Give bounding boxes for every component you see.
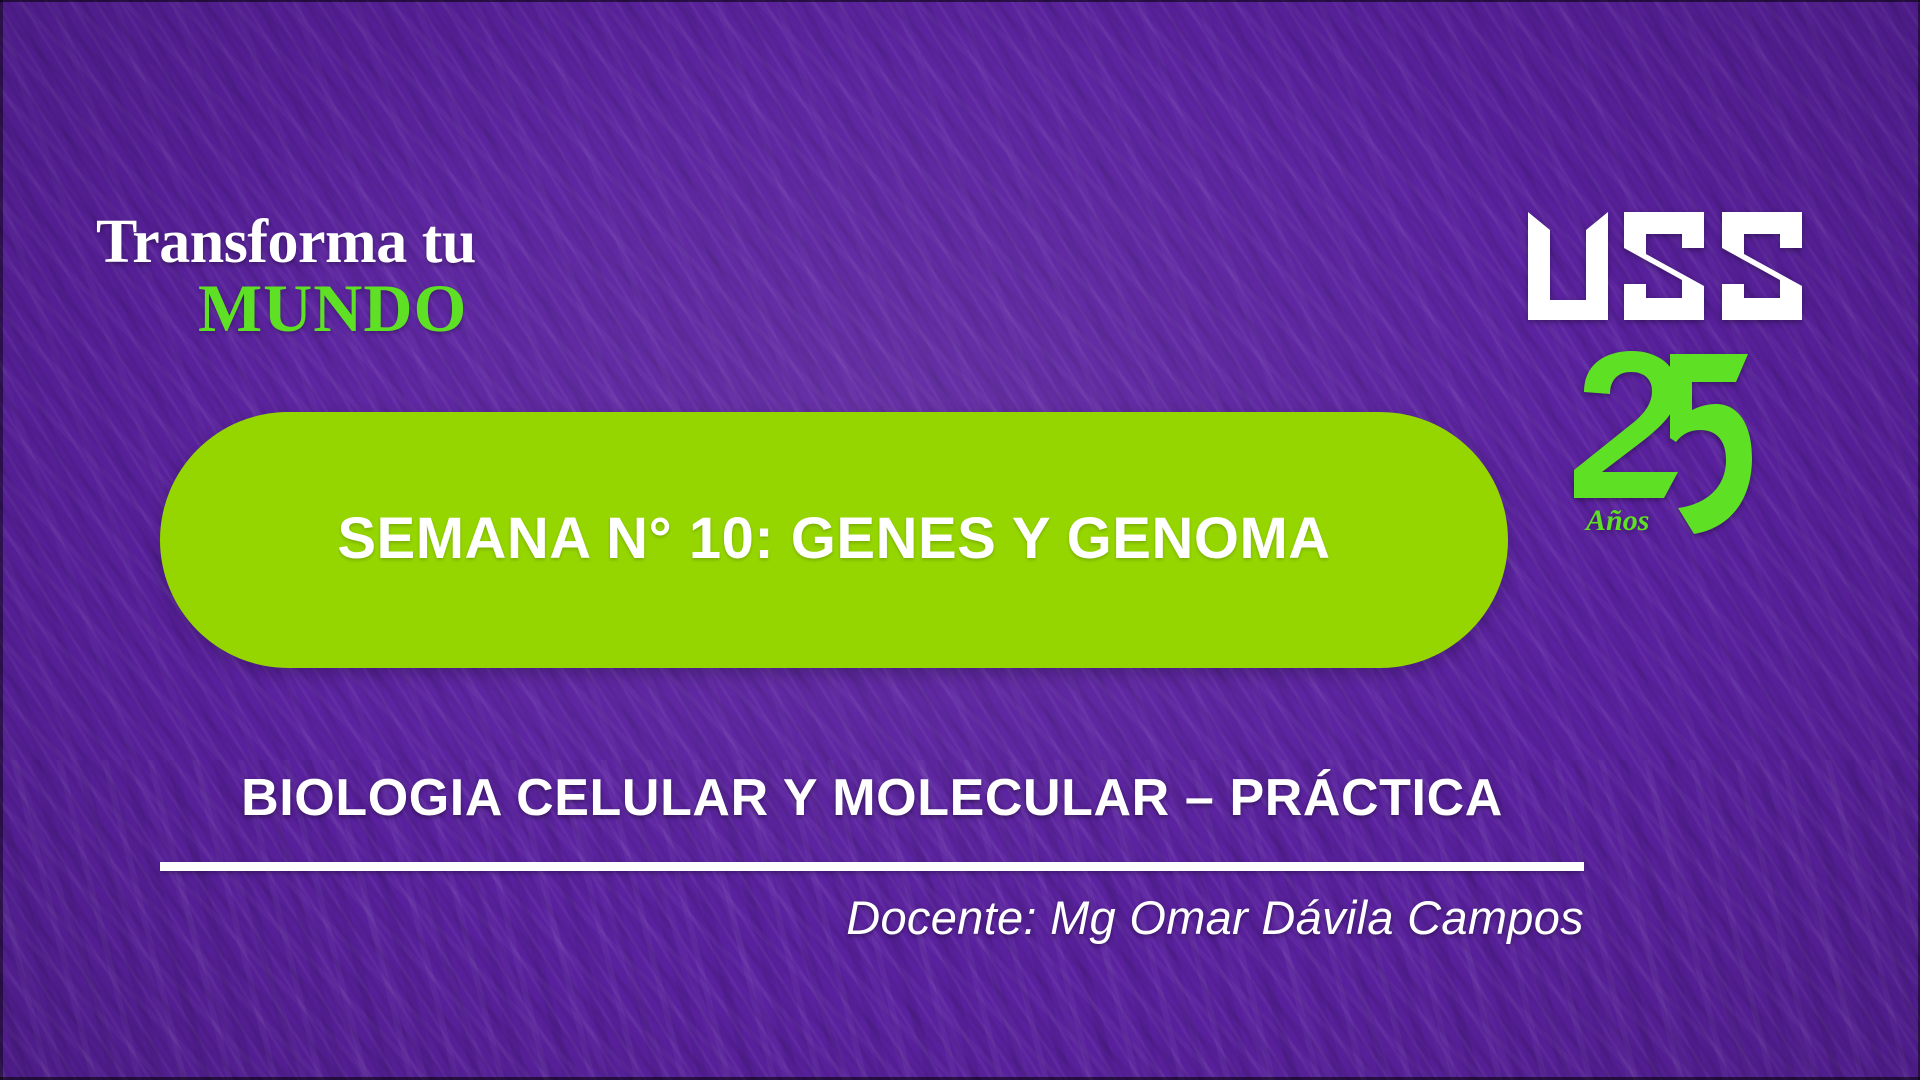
- brand-tagline: Transforma tu MUNDO: [96, 212, 476, 341]
- anniversary-logo: Años: [1566, 348, 1752, 538]
- tagline-line-1: Transforma tu: [96, 212, 476, 273]
- course-title: BIOLOGIA CELULAR Y MOLECULAR – PRÁCTICA: [160, 768, 1584, 828]
- uss-wordmark-icon: [1524, 208, 1808, 324]
- teacher-credit-text: Docente: Mg Omar Dávila Campos: [846, 891, 1584, 944]
- session-title-banner: SEMANA N° 10: GENES Y GENOMA: [160, 412, 1508, 668]
- session-title-text: SEMANA N° 10: GENES Y GENOMA: [337, 505, 1330, 572]
- divider-rule: [160, 862, 1584, 871]
- presentation-slide: Transforma tu MUNDO Años: [0, 0, 1920, 1080]
- anniversary-25-icon: Años: [1566, 348, 1752, 538]
- svg-text:Años: Años: [1584, 504, 1649, 537]
- course-title-text: BIOLOGIA CELULAR Y MOLECULAR – PRÁCTICA: [241, 769, 1503, 827]
- teacher-credit: Docente: Mg Omar Dávila Campos: [160, 890, 1584, 945]
- uss-logo: [1524, 208, 1808, 324]
- tagline-line-2: MUNDO: [198, 275, 476, 342]
